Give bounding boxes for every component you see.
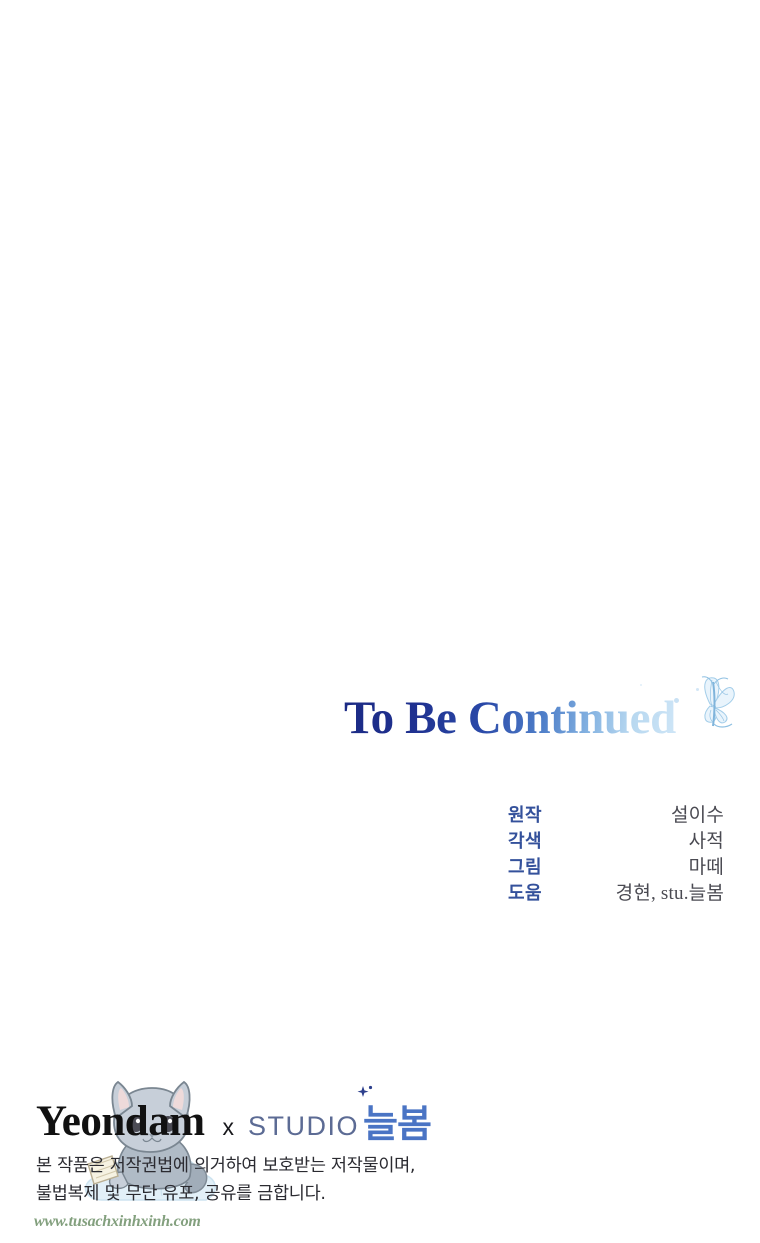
credit-label: 그림 [440,853,548,879]
credits-block: 원작 설이수 각색 사적 그림 마떼 도움 경현, stu.늘봄 [440,800,724,904]
to-be-continued-banner: To Be Continued [344,680,744,760]
studio-neulbom-logo: 늘봄 [363,1104,431,1144]
credit-label: 원작 [440,801,548,827]
to-be-continued-text: To Be Continued [344,692,676,744]
comic-end-page: To Be Continued [0,0,760,1243]
sparkle-icon [640,684,642,686]
credit-label: 도움 [440,879,548,905]
butterfly-icon [680,674,744,746]
credit-label: 각색 [440,827,548,853]
yeondam-logo: Yeondam [36,1100,205,1144]
copyright-line-1: 본 작품은 저작권법에 의거하여 보호받는 저작물이며, [36,1152,596,1180]
credit-value: 설이수 [548,800,724,827]
logo-separator: x [223,1114,235,1141]
sparkle-icon [674,698,679,703]
credit-row: 각색 사적 [440,826,724,852]
credit-row: 원작 설이수 [440,800,724,826]
copyright-line-2: 불법복제 및 무단 유포, 공유를 금합니다. [36,1180,596,1208]
sparkle-icon [656,714,659,717]
copyright-notice: 본 작품은 저작권법에 의거하여 보호받는 저작물이며, 불법복제 및 무단 유… [36,1152,596,1208]
credit-row: 그림 마떼 [440,852,724,878]
footer: Yeondam x STUDIO 늘봄 본 작품은 저작권법에 의거하여 보호받… [0,1062,760,1243]
credit-row: 도움 경현, stu.늘봄 [440,878,724,904]
sparkle-icon [355,1084,375,1104]
studio-word: STUDIO [248,1111,359,1142]
credit-value: 사적 [548,826,724,853]
credit-value: 경현, stu.늘봄 [548,878,724,905]
site-watermark: www.tusachxinhxinh.com [34,1213,201,1231]
credit-value: 마떼 [548,852,724,879]
